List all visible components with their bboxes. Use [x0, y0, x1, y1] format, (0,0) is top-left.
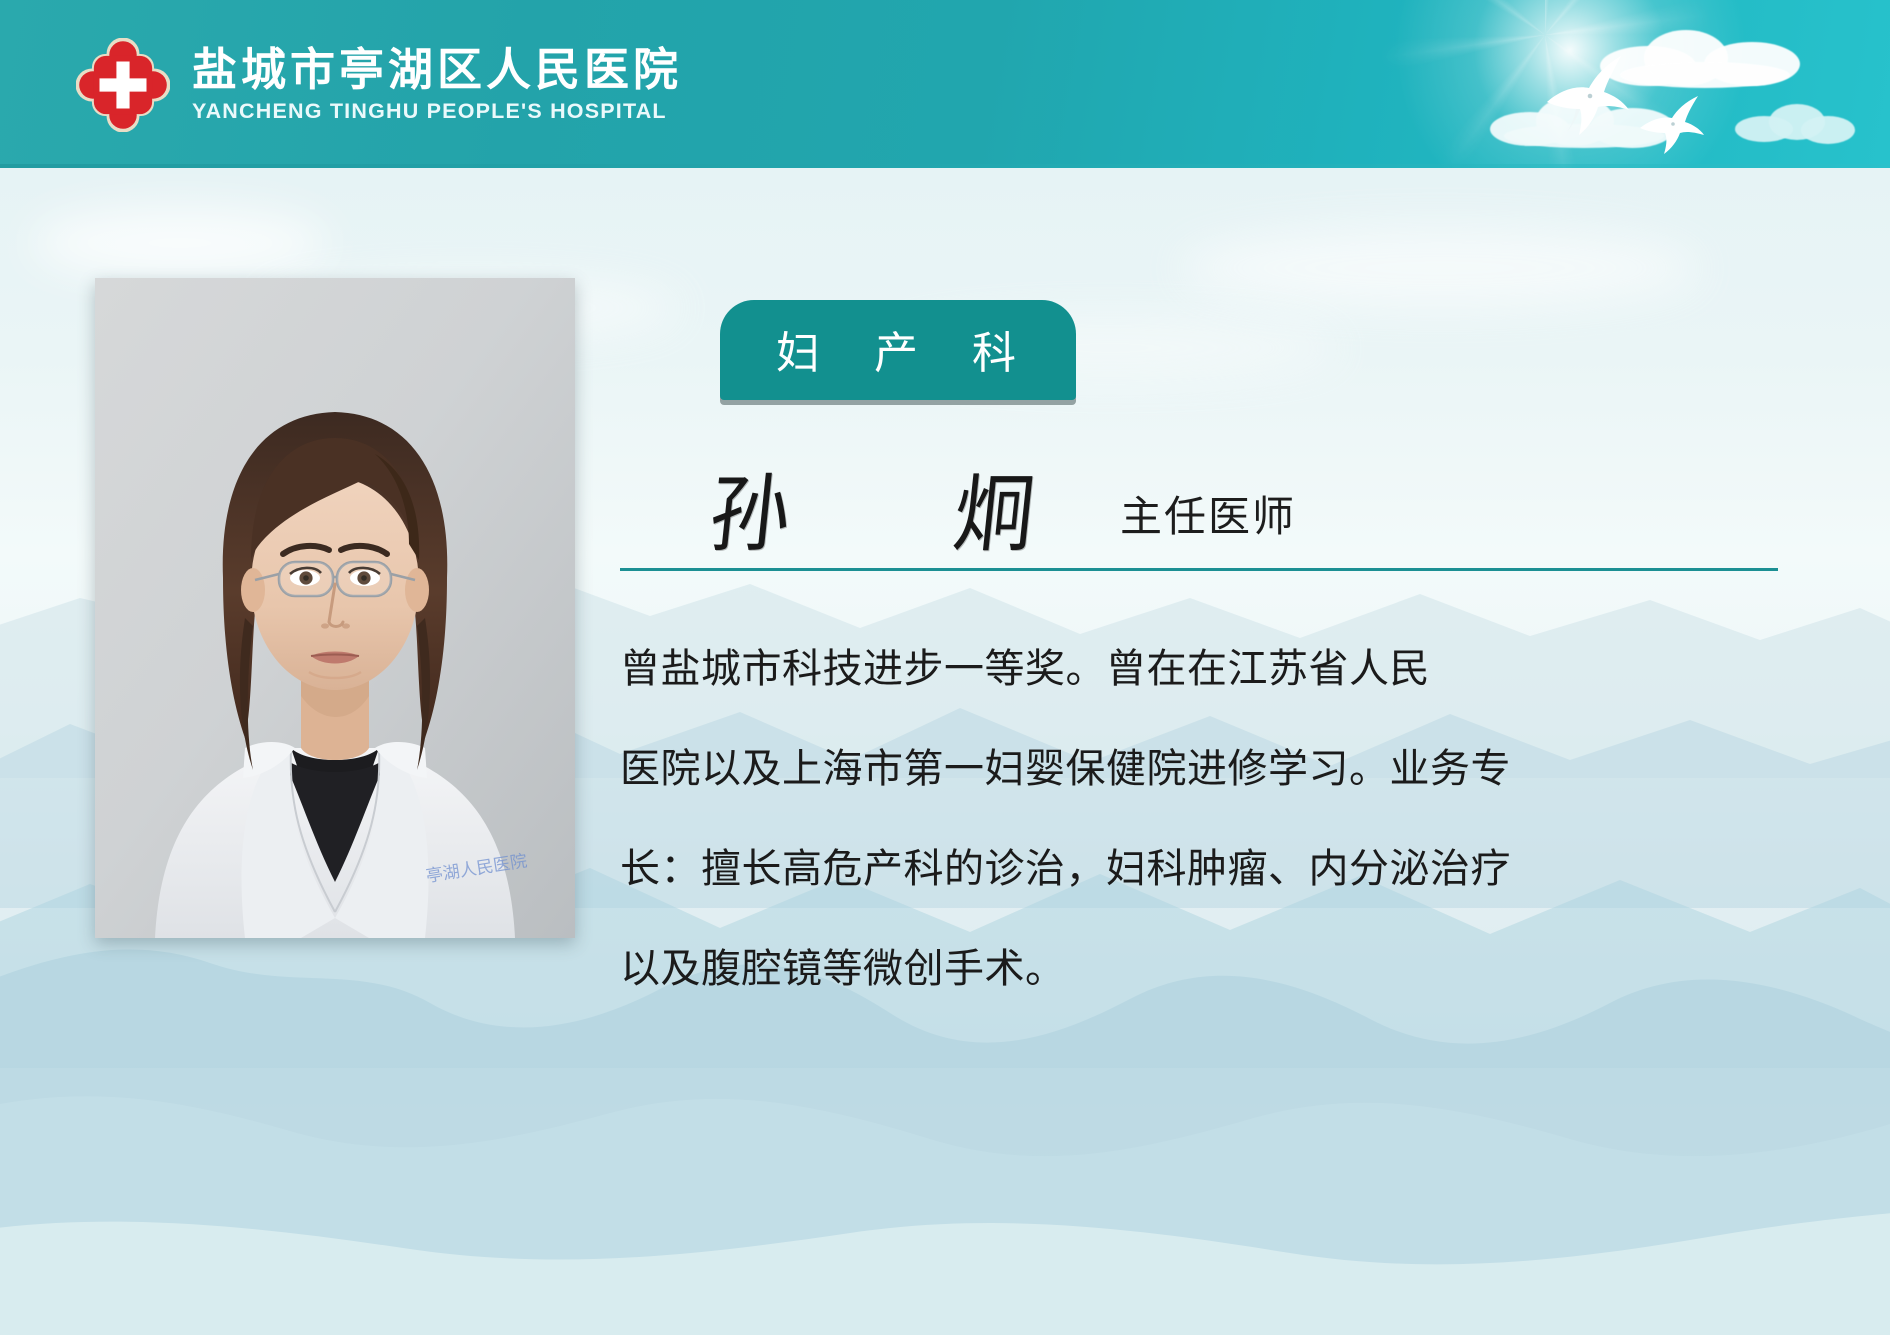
- sun-rays-icon: [1380, 0, 1710, 168]
- profile-content: 妇 产 科 孙 炯 主任医师 曾盐城市科技进步一等奖。曾在在江苏省人民 医院以及…: [612, 300, 1832, 1019]
- hospital-name-cn: 盐城市亭湖区人民医院: [192, 46, 682, 93]
- red-cross-flower-logo-icon: [76, 38, 170, 132]
- bio-line: 曾盐城市科技进步一等奖。曾在在江苏省人民: [620, 619, 1788, 719]
- bio-line: 医院以及上海市第一妇婴保健院进修学习。业务专: [620, 719, 1788, 819]
- poster-stage: 盐城市亭湖区人民医院 YANCHENG TINGHU PEOPLE'S HOSP…: [0, 0, 1890, 1335]
- hospital-logo-block: 盐城市亭湖区人民医院 YANCHENG TINGHU PEOPLE'S HOSP…: [76, 38, 682, 132]
- department-badge: 妇 产 科: [720, 300, 1076, 400]
- cloud-icon: [1490, 92, 1675, 148]
- bio-line: 长：擅长高危产科的诊治，妇科肿瘤、内分泌治疗: [620, 819, 1788, 919]
- doctor-title: 主任医师: [1120, 483, 1296, 554]
- divider: [620, 568, 1778, 571]
- doctor-photo: 亭湖人民医院: [95, 278, 575, 938]
- cloud-icon: [1735, 104, 1855, 144]
- cloud-icon: [1600, 28, 1800, 88]
- doctor-name: 孙 炯: [614, 473, 1081, 556]
- doctor-biography: 曾盐城市科技进步一等奖。曾在在江苏省人民 医院以及上海市第一妇婴保健院进修学习。…: [620, 619, 1788, 1019]
- hospital-name-en: YANCHENG TINGHU PEOPLE'S HOSPITAL: [192, 99, 682, 124]
- dove-icon: [1533, 47, 1641, 139]
- page-header: 盐城市亭湖区人民医院 YANCHENG TINGHU PEOPLE'S HOSP…: [0, 0, 1890, 168]
- doctor-name-row: 孙 炯 主任医师: [618, 458, 1832, 554]
- sun-icon: [1370, 0, 1770, 168]
- dove-icon: [1632, 92, 1710, 156]
- bio-line: 以及腹腔镜等微创手术。: [620, 919, 1788, 1019]
